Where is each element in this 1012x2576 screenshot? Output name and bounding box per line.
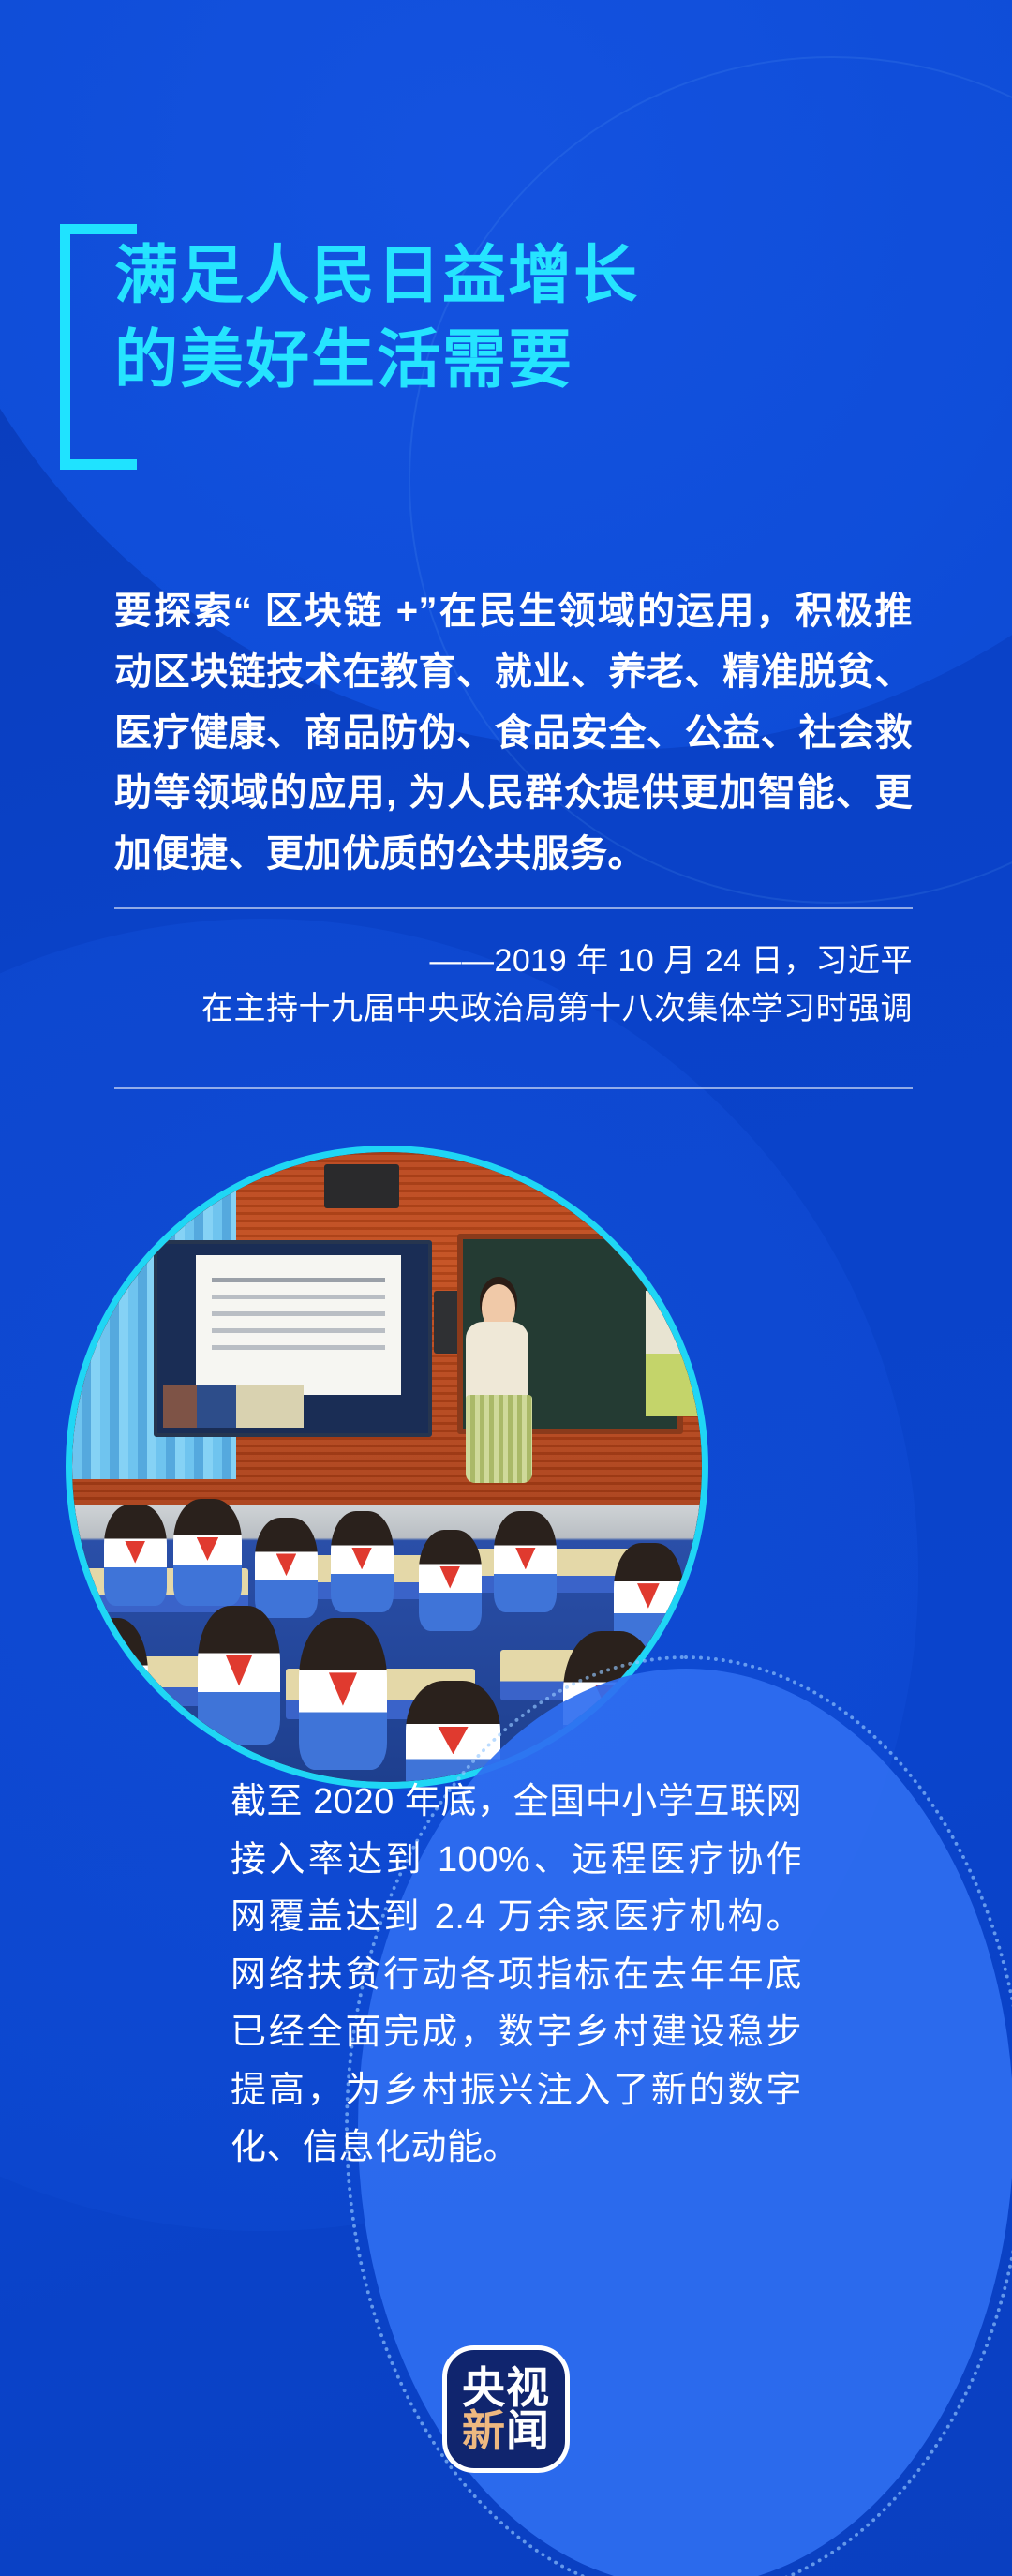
photo-smartboard (154, 1240, 432, 1437)
divider-bottom (114, 1087, 913, 1089)
photo-student (198, 1606, 279, 1745)
header: 满足人民日益增长 的美好生活需要 (0, 0, 1012, 403)
photo-smartboard-document (196, 1255, 402, 1395)
photo-student (255, 1518, 318, 1619)
logo-char-wen: 闻 (506, 2409, 550, 2452)
quote-body: 要探索“ 区块链 +”在民生领域的运用，积极推动区块链技术在教育、就业、养老、精… (114, 581, 913, 885)
photo-board-side-panel (646, 1291, 702, 1416)
corner-bracket-icon (60, 234, 137, 459)
quote-attribution: ——2019 年 10 月 24 日，习近平 在主持十九届中央政治局第十八次集体… (114, 937, 913, 1033)
poster-root: 满足人民日益增长 的美好生活需要 要探索“ 区块链 +”在民生领域的运用，积极推… (0, 0, 1012, 2576)
logo-row-bottom: 新 闻 (462, 2409, 550, 2452)
logo-char-xin: 新 (462, 2409, 506, 2452)
page-title: 满足人民日益增长 的美好生活需要 (114, 234, 901, 403)
stats-body: 截至 2020 年底，全国中小学互联网接入率达到 100%、远程医疗协作网覆盖达… (231, 1774, 802, 2178)
photo-student (494, 1511, 557, 1612)
photo-student (331, 1511, 394, 1612)
photo-teacher-body (466, 1322, 528, 1403)
logo-char-yang: 央 (462, 2366, 506, 2409)
cctv-news-logo: 央 视 新 闻 (442, 2345, 570, 2473)
photo-student (72, 1618, 148, 1757)
photo-teacher-skirt (466, 1395, 532, 1483)
photo-smartboard-thumbnails (163, 1385, 304, 1427)
attribution-line-occasion: 在主持十九届中央政治局第十八次集体学习时强调 (114, 985, 913, 1033)
divider-top (114, 907, 913, 909)
logo-row-top: 央 视 (462, 2366, 550, 2409)
photo-speaker-icon (324, 1164, 400, 1208)
photo-student (419, 1530, 482, 1631)
attribution-line-date: ——2019 年 10 月 24 日，习近平 (114, 937, 913, 985)
photo-student (173, 1499, 243, 1606)
title-wrap: 满足人民日益增长 的美好生活需要 (114, 234, 901, 403)
photo-student (104, 1505, 167, 1606)
logo-char-shi: 视 (506, 2366, 550, 2409)
